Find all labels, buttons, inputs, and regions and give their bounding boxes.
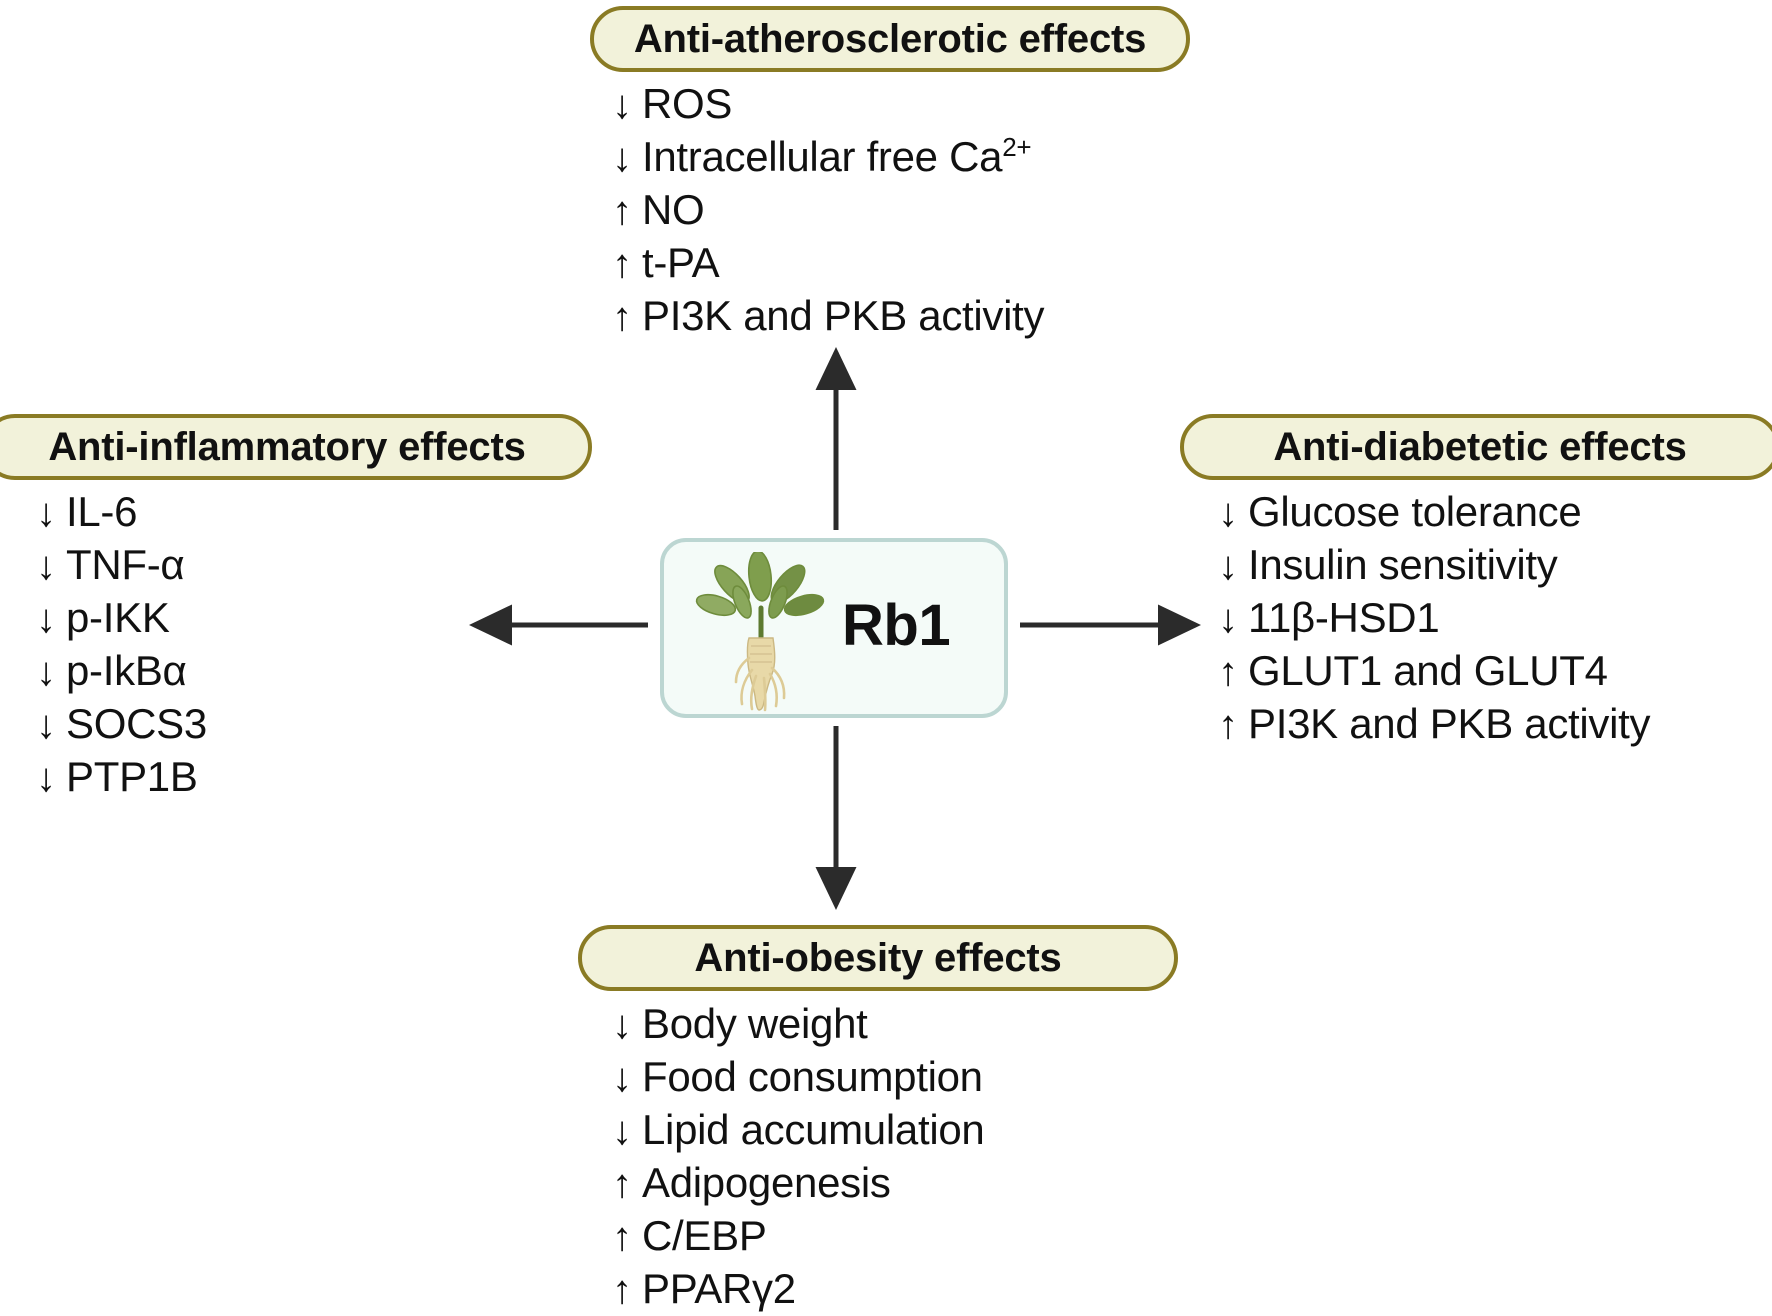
down-arrow-icon: ↓ bbox=[36, 488, 66, 539]
list-item-label: PPARγ2 bbox=[642, 1263, 796, 1314]
up-arrow-icon: ↑ bbox=[612, 1212, 642, 1263]
list-item: ↑ PPARγ2 bbox=[612, 1263, 984, 1316]
list-item-label: Adipogenesis bbox=[642, 1157, 891, 1208]
panel-title-anti-inflammatory: Anti-inflammatory effects bbox=[0, 414, 592, 480]
up-arrow-icon: ↑ bbox=[612, 292, 642, 343]
down-arrow-icon: ↓ bbox=[36, 541, 66, 592]
list-item-label: Intracellular free Ca2+ bbox=[642, 131, 1031, 182]
list-item-label: Lipid accumulation bbox=[642, 1104, 984, 1155]
list-item: ↓ Lipid accumulation bbox=[612, 1104, 984, 1157]
up-arrow-icon: ↑ bbox=[1218, 700, 1248, 751]
panel-title-anti-obesity: Anti-obesity effects bbox=[578, 925, 1178, 991]
down-arrow-icon: ↓ bbox=[612, 1053, 642, 1104]
list-item-label: ROS bbox=[642, 78, 732, 129]
list-item: ↓ 11β-HSD1 bbox=[1218, 592, 1650, 645]
panel-title-text: Anti-obesity effects bbox=[694, 936, 1061, 981]
list-item-label: Glucose tolerance bbox=[1248, 486, 1581, 537]
list-item: ↑ C/EBP bbox=[612, 1210, 984, 1263]
list-item: ↑ PI3K and PKB activity bbox=[612, 290, 1044, 343]
down-arrow-icon: ↓ bbox=[612, 80, 642, 131]
list-item: ↓ IL-6 bbox=[36, 486, 207, 539]
down-arrow-icon: ↓ bbox=[612, 1000, 642, 1051]
list-item-label: C/EBP bbox=[642, 1210, 767, 1261]
panel-list-anti-atherosclerotic: ↓ ROS ↓ Intracellular free Ca2+ ↑ NO ↑ t… bbox=[612, 78, 1044, 343]
list-item-label: SOCS3 bbox=[66, 698, 207, 749]
diagram-canvas: Anti-atherosclerotic effects ↓ ROS ↓ Int… bbox=[0, 0, 1772, 1304]
down-arrow-icon: ↓ bbox=[1218, 488, 1248, 539]
panel-title-text: Anti-atherosclerotic effects bbox=[634, 17, 1146, 62]
list-item-label: NO bbox=[642, 184, 704, 235]
up-arrow-icon: ↑ bbox=[1218, 647, 1248, 698]
list-item-label: PI3K and PKB activity bbox=[1248, 698, 1650, 749]
list-item: ↑ GLUT1 and GLUT4 bbox=[1218, 645, 1650, 698]
list-item-label: PTP1B bbox=[66, 751, 198, 802]
list-item-label: IL-6 bbox=[66, 486, 137, 537]
panel-list-anti-obesity: ↓ Body weight ↓ Food consumption ↓ Lipid… bbox=[612, 998, 984, 1316]
list-item: ↓ SOCS3 bbox=[36, 698, 207, 751]
superscript-charge: 2+ bbox=[1002, 132, 1031, 162]
list-item: ↓ Body weight bbox=[612, 998, 984, 1051]
panel-list-anti-diabetetic: ↓ Glucose tolerance ↓ Insulin sensitivit… bbox=[1218, 486, 1650, 751]
list-item: ↓ ROS bbox=[612, 78, 1044, 131]
list-item: ↓ PTP1B bbox=[36, 751, 207, 804]
panel-title-anti-atherosclerotic: Anti-atherosclerotic effects bbox=[590, 6, 1190, 72]
list-item: ↓ Intracellular free Ca2+ bbox=[612, 131, 1044, 184]
list-item-label: PI3K and PKB activity bbox=[642, 290, 1044, 341]
list-item: ↓ Insulin sensitivity bbox=[1218, 539, 1650, 592]
center-node-label: Rb1 bbox=[842, 592, 950, 659]
down-arrow-icon: ↓ bbox=[1218, 541, 1248, 592]
list-item: ↓ p-IKK bbox=[36, 592, 207, 645]
list-item: ↓ TNF-α bbox=[36, 539, 207, 592]
panel-list-anti-inflammatory: ↓ IL-6 ↓ TNF-α ↓ p-IKK ↓ p-IkBα ↓ SOCS3 … bbox=[36, 486, 207, 804]
list-item-label: Food consumption bbox=[642, 1051, 983, 1102]
panel-title-text: Anti-inflammatory effects bbox=[48, 425, 525, 470]
list-item: ↑ PI3K and PKB activity bbox=[1218, 698, 1650, 751]
list-item-label: p-IkBα bbox=[66, 645, 187, 696]
list-item-label: GLUT1 and GLUT4 bbox=[1248, 645, 1608, 696]
list-item-label: 11β-HSD1 bbox=[1248, 592, 1439, 643]
up-arrow-icon: ↑ bbox=[612, 1265, 642, 1316]
list-item: ↑ NO bbox=[612, 184, 1044, 237]
list-item-label: p-IKK bbox=[66, 592, 170, 643]
down-arrow-icon: ↓ bbox=[36, 700, 66, 751]
down-arrow-icon: ↓ bbox=[612, 1106, 642, 1157]
ginseng-plant-icon bbox=[686, 552, 836, 712]
list-item: ↓ Food consumption bbox=[612, 1051, 984, 1104]
list-item-label: Body weight bbox=[642, 998, 868, 1049]
center-node-rb1: Rb1 bbox=[660, 538, 1008, 718]
up-arrow-icon: ↑ bbox=[612, 186, 642, 237]
down-arrow-icon: ↓ bbox=[36, 647, 66, 698]
list-item: ↓ p-IkBα bbox=[36, 645, 207, 698]
up-arrow-icon: ↑ bbox=[612, 239, 642, 290]
list-item-label: TNF-α bbox=[66, 539, 184, 590]
down-arrow-icon: ↓ bbox=[612, 133, 642, 184]
list-item-label: t-PA bbox=[642, 237, 719, 288]
list-item-label: Insulin sensitivity bbox=[1248, 539, 1557, 590]
down-arrow-icon: ↓ bbox=[36, 594, 66, 645]
list-item: ↑ Adipogenesis bbox=[612, 1157, 984, 1210]
list-item: ↓ Glucose tolerance bbox=[1218, 486, 1650, 539]
list-item: ↑ t-PA bbox=[612, 237, 1044, 290]
panel-title-text: Anti-diabetetic effects bbox=[1273, 425, 1686, 470]
down-arrow-icon: ↓ bbox=[1218, 594, 1248, 645]
up-arrow-icon: ↑ bbox=[612, 1159, 642, 1210]
panel-title-anti-diabetetic: Anti-diabetetic effects bbox=[1180, 414, 1772, 480]
down-arrow-icon: ↓ bbox=[36, 753, 66, 804]
